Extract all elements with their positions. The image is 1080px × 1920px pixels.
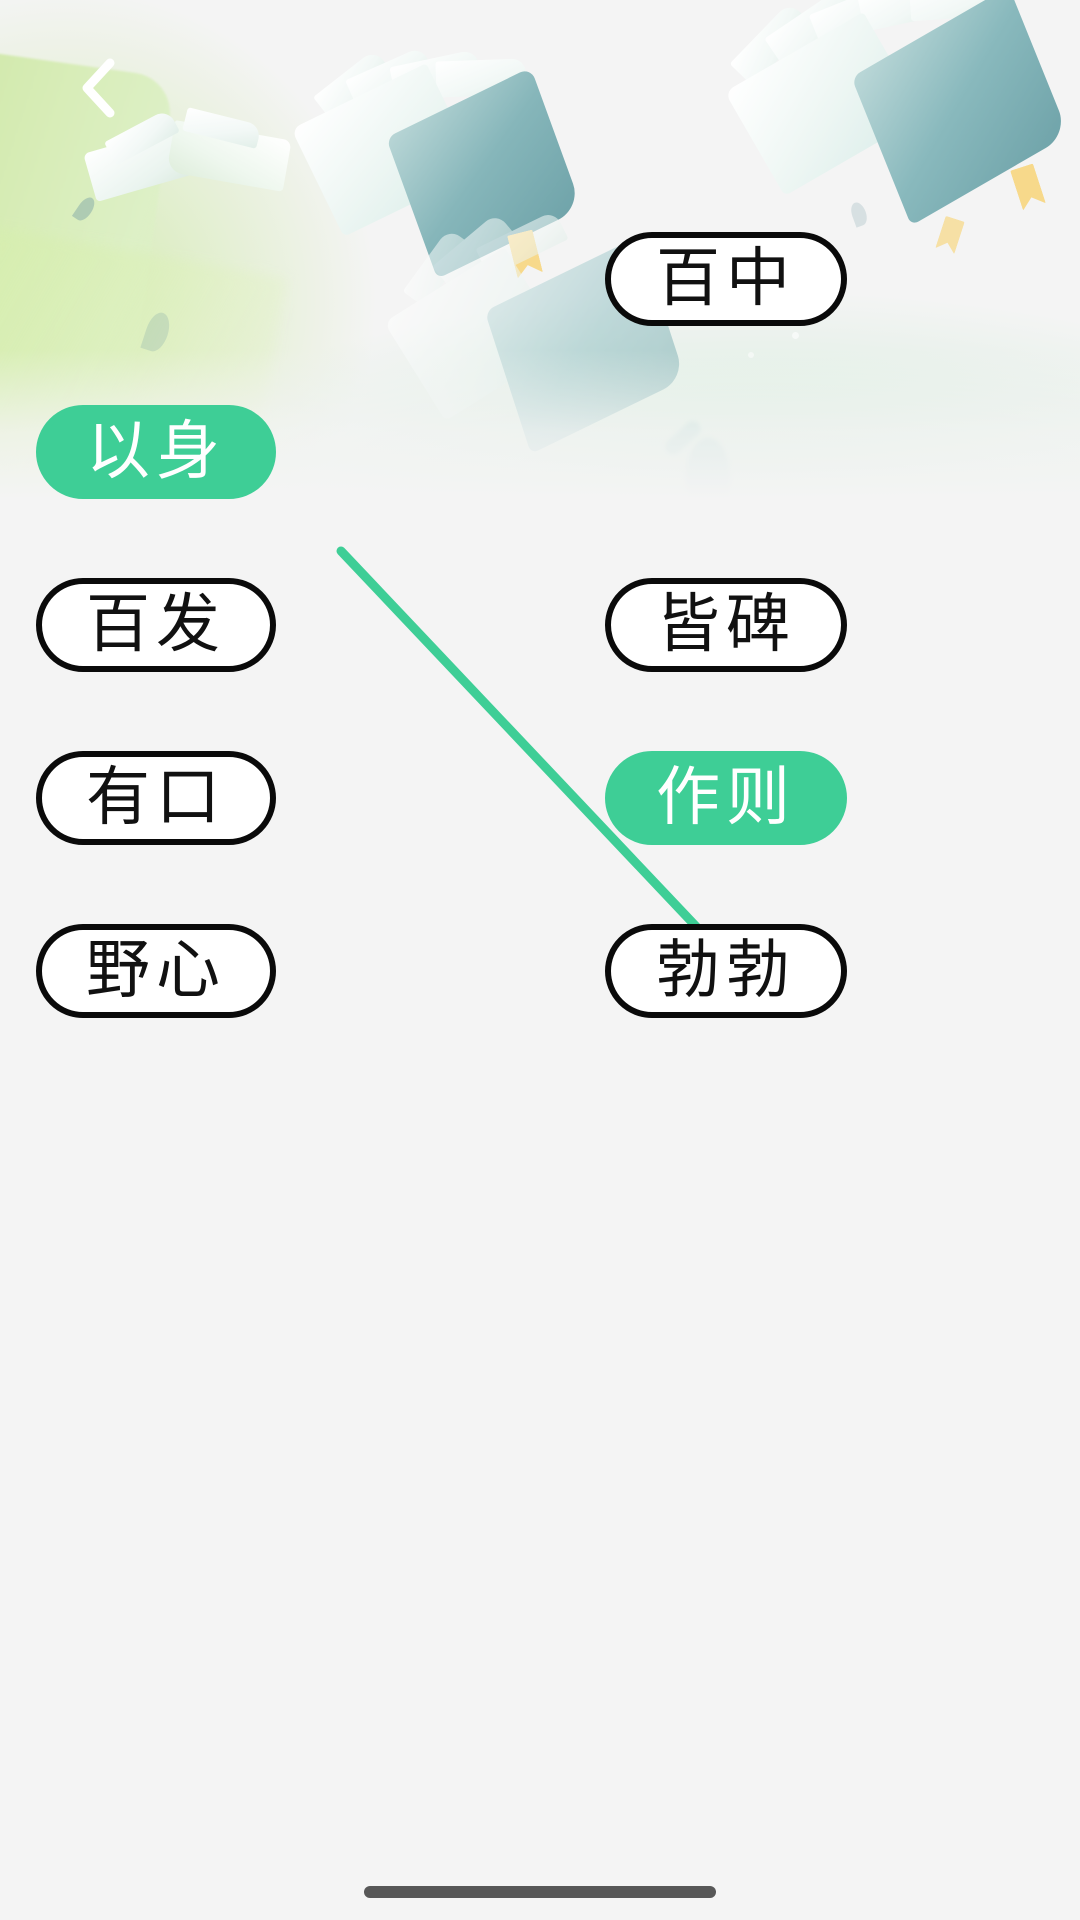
word-tile-right-2[interactable]: 作则	[605, 751, 847, 845]
decor-sparkle	[792, 332, 799, 339]
word-tile-label: 皆碑	[656, 593, 796, 657]
word-tile-label: 勃勃	[656, 939, 796, 1003]
word-tile-left-0[interactable]: 以身	[36, 405, 276, 499]
book-illustration-top-right	[720, 0, 1080, 220]
back-button[interactable]	[55, 45, 141, 131]
word-tile-right-3[interactable]: 勃勃	[605, 924, 847, 1018]
home-indicator[interactable]	[364, 1886, 716, 1898]
word-tile-left-1[interactable]: 百发	[36, 578, 276, 672]
chevron-left-icon	[78, 57, 118, 119]
word-tile-label: 有口	[86, 766, 226, 830]
word-tile-right-1[interactable]: 皆碑	[605, 578, 847, 672]
word-tile-left-2[interactable]: 有口	[36, 751, 276, 845]
word-tile-left-3[interactable]: 野心	[36, 924, 276, 1018]
word-tile-label: 百中	[656, 247, 796, 311]
word-tile-right-0[interactable]: 百中	[605, 232, 847, 326]
game-screen: 百中 以身 百发 有口 野心 皆碑 作则 勃勃	[0, 0, 1080, 1920]
word-tile-label: 以身	[86, 420, 226, 484]
word-tile-label: 作则	[656, 766, 796, 830]
word-tile-label: 百发	[86, 593, 226, 657]
word-tile-label: 野心	[86, 939, 226, 1003]
